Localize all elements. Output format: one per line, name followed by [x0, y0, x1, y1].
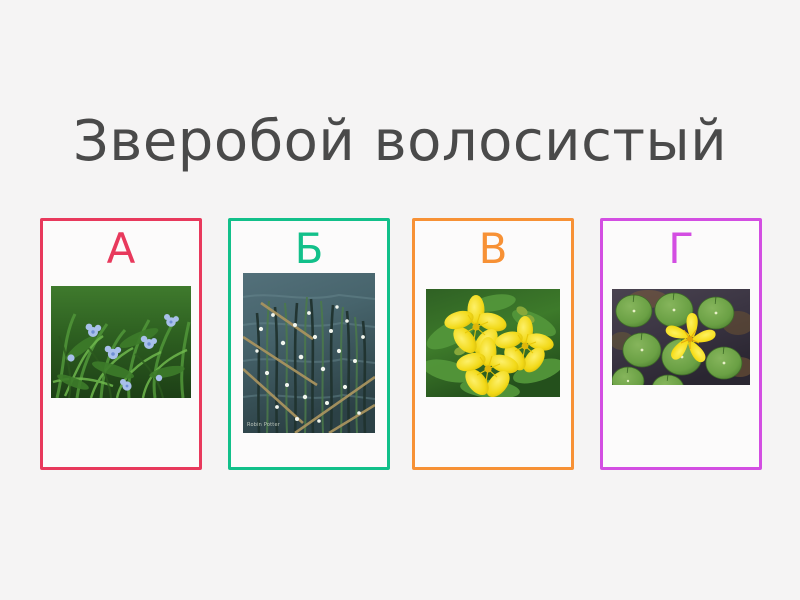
answer-card-g[interactable]: Г [600, 218, 762, 470]
photo-floating-heart-yellow-flower [612, 289, 750, 385]
answer-card-v[interactable]: В [412, 218, 574, 470]
answer-letter-v: В [415, 225, 571, 273]
photo-aquatic-plant-white-flowers: Robin Potter [243, 273, 375, 433]
page-title: Зверобой волосистый [0, 108, 800, 176]
answer-letter-g: Г [603, 225, 759, 273]
answer-letter-b: Б [231, 225, 387, 273]
answer-card-b[interactable]: Б [228, 218, 390, 470]
answer-card-a[interactable]: А [40, 218, 202, 470]
photo-yellow-st-johns-wort [426, 289, 560, 397]
answer-letter-a: А [43, 225, 199, 273]
answer-options-row: А [0, 218, 800, 472]
photo-watermark: Robin Potter [247, 422, 280, 428]
photo-blue-speedwell-flowers [51, 286, 191, 398]
quiz-stage: Зверобой волосистый А [0, 0, 800, 600]
